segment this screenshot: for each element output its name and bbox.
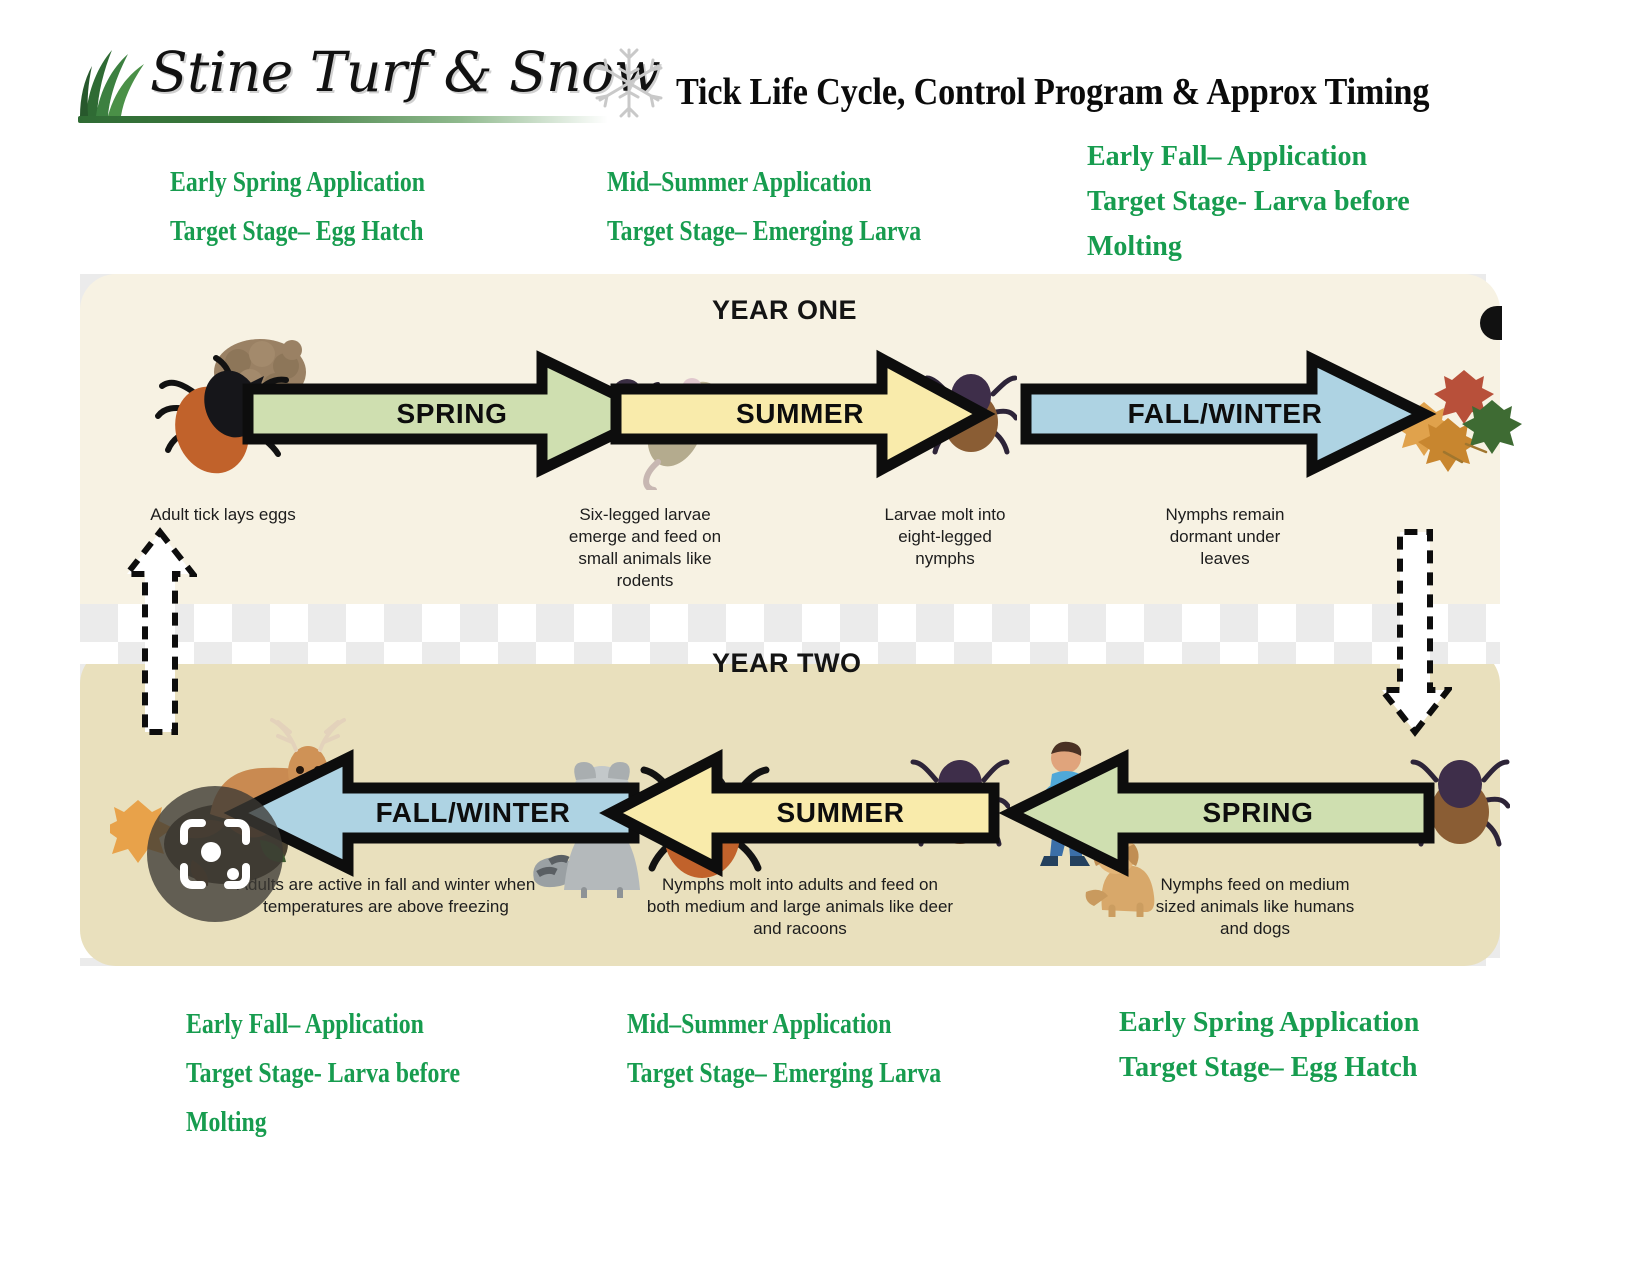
caption-line: eight-legged — [830, 526, 1060, 548]
caption-line: rodents — [530, 570, 760, 592]
caption-line: Nymphs remain — [1110, 504, 1340, 526]
note-early-spring-bottom: Early Spring Application Target Stage– E… — [1119, 1000, 1419, 1090]
caption-six-legged-larvae: Six-legged larvae emerge and feed on sma… — [530, 504, 760, 592]
caption-line: Larvae molt into — [830, 504, 1060, 526]
caption-adult-lays-eggs: Adult tick lays eggs — [108, 504, 338, 526]
caption-nymphs-molt-adults: Nymphs molt into adults and feed on both… — [600, 874, 1000, 940]
caption-line: Adult tick lays eggs — [108, 504, 338, 526]
caption-line: emerge and feed on — [530, 526, 760, 548]
caption-line: small animals like — [530, 548, 760, 570]
caption-line: Nymphs feed on medium — [1080, 874, 1430, 896]
note-line-1: Early Spring Application — [1119, 1000, 1419, 1045]
caption-line: Six-legged larvae — [530, 504, 760, 526]
caption-line: and dogs — [1080, 918, 1430, 940]
note-line-2: Target Stage– Emerging Larva — [627, 1049, 941, 1098]
tick-lifecycle-infographic: YEAR ONE YEAR TWO — [80, 274, 1500, 966]
note-mid-summer-top: Mid–Summer Application Target Stage– Eme… — [607, 158, 921, 256]
note-mid-summer-bottom: Mid–Summer Application Target Stage– Eme… — [627, 1000, 941, 1098]
caption-line: nymphs — [830, 548, 1060, 570]
note-line-1: Early Fall– Application — [1087, 134, 1410, 179]
caption-line: both medium and large animals like deer — [600, 896, 1000, 918]
year-one-label: YEAR ONE — [712, 295, 857, 326]
note-line-3: Molting — [1087, 224, 1410, 269]
note-line-2: Target Stage– Egg Hatch — [1119, 1045, 1419, 1090]
note-line-2: Target Stage– Emerging Larva — [607, 207, 921, 256]
note-early-fall-bottom: Early Fall– Application Target Stage- La… — [186, 1000, 460, 1147]
arrow-spring-year-one: SPRING — [242, 351, 662, 477]
grass-blades-icon — [78, 46, 158, 120]
arrow-fall-winter-year-two: FALL/WINTER — [230, 750, 640, 876]
note-line-1: Early Spring Application — [170, 158, 425, 207]
google-lens-icon — [178, 817, 252, 891]
left-dashed-up-arrow — [123, 526, 197, 738]
arrow-spring-year-two: SPRING — [1005, 750, 1435, 876]
note-line-2: Target Stage- Larva before — [1087, 179, 1410, 224]
caption-nymphs-dormant: Nymphs remain dormant under leaves — [1110, 504, 1340, 570]
note-line-1: Mid–Summer Application — [627, 1000, 941, 1049]
header: Stine Turf & Snow Tick Life Cycle, Contr… — [0, 0, 1650, 140]
google-lens-button[interactable] — [147, 786, 283, 922]
company-logo: Stine Turf & Snow — [78, 38, 638, 130]
note-early-spring-top: Early Spring Application Target Stage– E… — [170, 158, 425, 256]
note-line-1: Mid–Summer Application — [607, 158, 921, 207]
caption-line: dormant under — [1110, 526, 1340, 548]
arrow-fall-winter-year-one: FALL/WINTER — [1020, 351, 1430, 477]
note-line-2: Target Stage– Egg Hatch — [170, 207, 425, 256]
arrow-summer-year-one: SUMMER — [610, 351, 990, 477]
note-line-3: Molting — [186, 1098, 460, 1147]
note-line-2: Target Stage- Larva before — [186, 1049, 460, 1098]
caption-line: and racoons — [600, 918, 1000, 940]
page-title: Tick Life Cycle, Control Program & Appro… — [676, 70, 1429, 114]
page-root: Stine Turf & Snow Tick Life Cycle, Contr… — [0, 0, 1650, 1275]
year-two-label: YEAR TWO — [712, 648, 862, 679]
right-dashed-down-arrow — [1378, 526, 1452, 738]
note-line-1: Early Fall– Application — [186, 1000, 460, 1049]
caption-line: Nymphs molt into adults and feed on — [600, 874, 1000, 896]
caption-larvae-molt: Larvae molt into eight-legged nymphs — [830, 504, 1060, 570]
caption-line: sized animals like humans — [1080, 896, 1430, 918]
caption-nymphs-feed-medium: Nymphs feed on medium sized animals like… — [1080, 874, 1430, 940]
snowflake-icon — [595, 46, 663, 120]
note-early-fall-top: Early Fall– Application Target Stage- La… — [1087, 134, 1410, 269]
caption-line: leaves — [1110, 548, 1340, 570]
logo-wordmark: Stine Turf & Snow — [150, 40, 660, 104]
logo-underline — [78, 116, 608, 123]
arrow-summer-year-two: SUMMER — [605, 750, 1000, 876]
